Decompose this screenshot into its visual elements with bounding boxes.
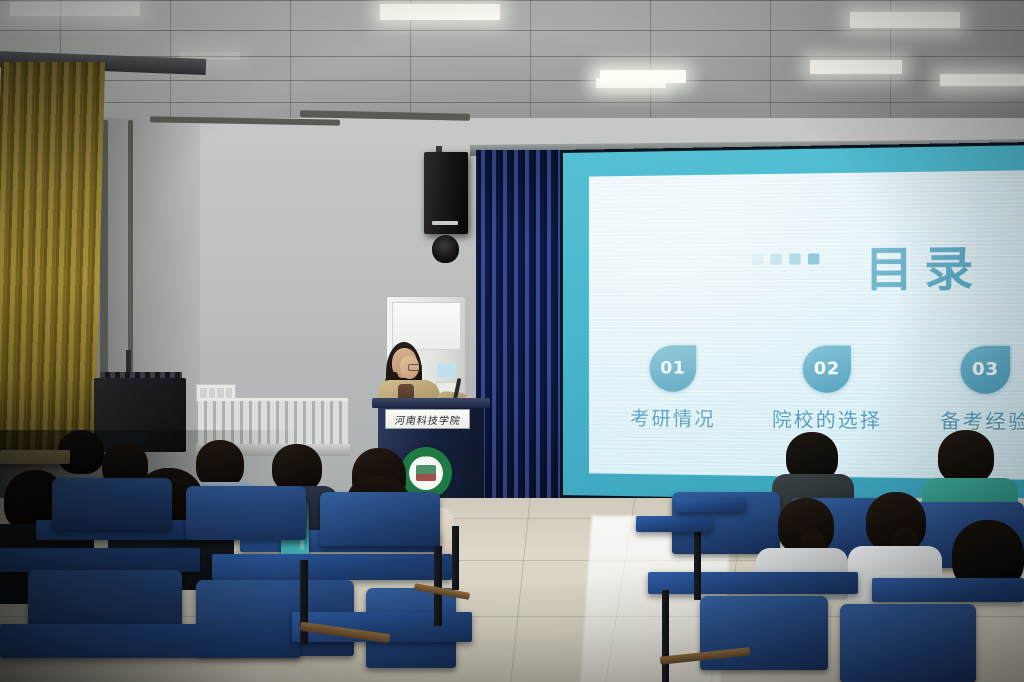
audience-head: [196, 440, 244, 488]
ceiling-light: [10, 2, 140, 16]
podium-plaque: 河南科技学院: [385, 409, 470, 429]
seat: [840, 604, 976, 682]
desk: [636, 516, 712, 532]
lecture-hall-photo: 目录 01 考研情况 02 院校的选择 03: [0, 0, 1024, 682]
desk: [0, 548, 200, 572]
desk-leg: [694, 530, 701, 600]
air-conditioner-label: [438, 364, 456, 377]
droplet-badge-03: 03: [961, 346, 1011, 394]
seat: [700, 596, 828, 670]
equipment-rack: [94, 378, 186, 452]
toc-number: 01: [660, 358, 685, 378]
podium-top: [372, 398, 490, 408]
desk: [676, 498, 746, 512]
wall-conduit: [128, 120, 133, 380]
gold-curtain: [0, 62, 105, 452]
desk: [212, 554, 452, 580]
speaker-driver: [432, 235, 459, 263]
ceiling-light: [940, 74, 1024, 86]
toc-label: 考研情况: [611, 403, 735, 431]
decor-dots-left: [752, 253, 820, 265]
seat: [186, 486, 306, 540]
speaker-vent: [432, 221, 458, 225]
toc-item-03: 03 备考经验: [920, 346, 1024, 435]
droplet-badge-02: 02: [803, 345, 851, 392]
emblem-mark: [416, 465, 436, 481]
venue-sign-text: 河南科技学院: [393, 412, 462, 427]
ceiling-light: [850, 12, 960, 28]
glasses-icon: [408, 364, 422, 371]
desk-leg: [662, 590, 669, 682]
toc-item-01: 01 考研情况: [611, 345, 735, 432]
droplet-badge-01: 01: [649, 345, 696, 392]
desk: [0, 450, 70, 464]
desk-leg: [452, 526, 459, 590]
desk: [648, 572, 858, 594]
toc-label: 院校的选择: [763, 405, 891, 434]
toc-item-02: 02 院校的选择: [763, 345, 891, 433]
toc-number: 02: [814, 359, 840, 380]
emblem-inner: [409, 456, 443, 490]
seat: [52, 478, 172, 530]
toc-list: 01 考研情况 02 院校的选择 03 备考经验: [611, 345, 1024, 435]
toc-number: 03: [972, 359, 999, 380]
ceiling-light: [596, 78, 666, 88]
ceiling-light: [380, 4, 500, 20]
audience-head: [938, 430, 994, 484]
slide-title: 目录: [865, 231, 985, 300]
ceiling-light: [810, 60, 902, 74]
seat: [320, 492, 440, 546]
emblem-year: 1939: [416, 453, 430, 459]
desk: [872, 578, 1024, 602]
blue-stage-curtain: [478, 150, 570, 540]
audience-head: [272, 444, 322, 492]
desk: [0, 624, 300, 658]
